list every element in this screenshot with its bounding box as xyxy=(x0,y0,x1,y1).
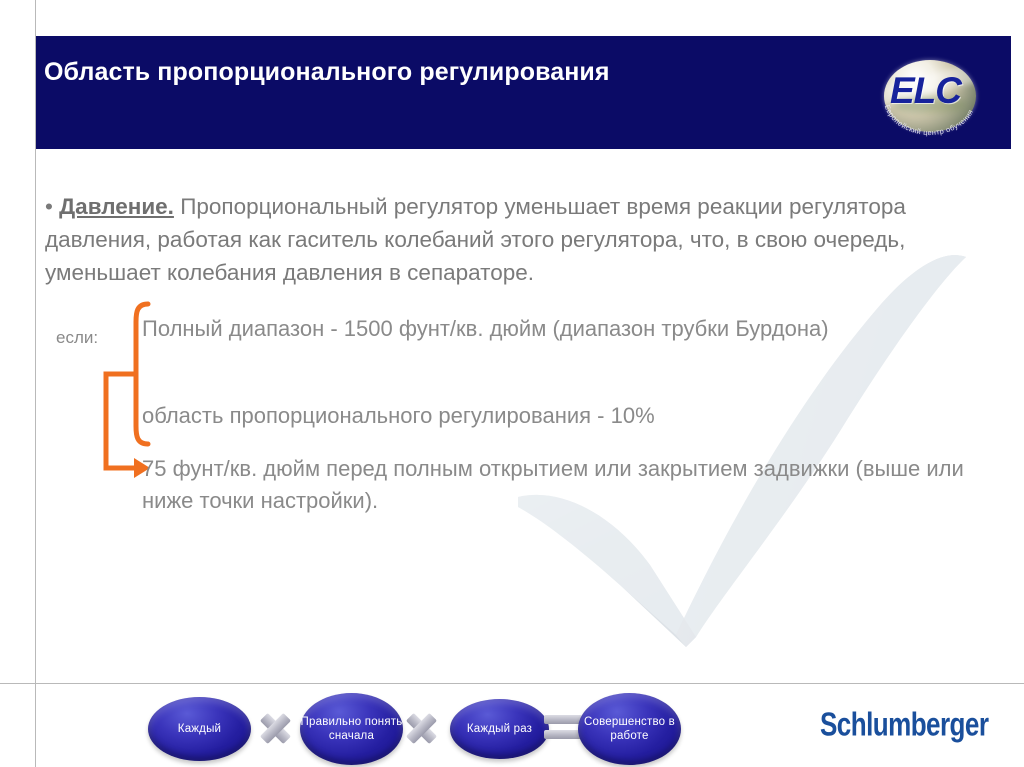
multiply-icon-1 xyxy=(252,705,298,751)
if-label: если: xyxy=(56,328,98,348)
slide-header-bar xyxy=(36,36,1011,149)
footer-oval-3: Каждый раз xyxy=(450,699,549,759)
condition-line-3: 75 фунт/кв. дюйм перед полным открытием … xyxy=(142,453,972,517)
elc-logo-letters: ELC xyxy=(890,70,982,112)
condition-line-2: область пропорционального регулирования … xyxy=(142,400,942,432)
multiply-icon-2 xyxy=(398,705,444,751)
page-title: Область пропорционального регулирования xyxy=(44,58,610,87)
schlumberger-logo: Schlumberger xyxy=(820,706,988,744)
footer-equation-graphic: Каждый Правильно понять сначала Каждый р… xyxy=(148,693,668,765)
elc-logo: ELC Европейский центр обучения xyxy=(876,56,984,140)
slide-canvas: Область пропорционального регулирования … xyxy=(0,0,1024,767)
equals-icon xyxy=(544,715,582,743)
condition-line-1: Полный диапазон - 1500 фунт/кв. дюйм (ди… xyxy=(142,313,942,345)
bullet-glyph: • xyxy=(45,194,53,219)
paragraph-text: Пропорциональный регулятор уменьшает вре… xyxy=(45,194,906,285)
footer-oval-1: Каждый xyxy=(148,697,251,761)
footer-oval-4: Совершенство в работе xyxy=(578,693,681,765)
frame-horizontal-rule xyxy=(0,683,1024,684)
paragraph-lead-bold: Давление. xyxy=(59,194,174,219)
body-paragraph: • Давление. Пропорциональный регулятор у… xyxy=(45,190,975,289)
footer-oval-2: Правильно понять сначала xyxy=(300,693,403,765)
